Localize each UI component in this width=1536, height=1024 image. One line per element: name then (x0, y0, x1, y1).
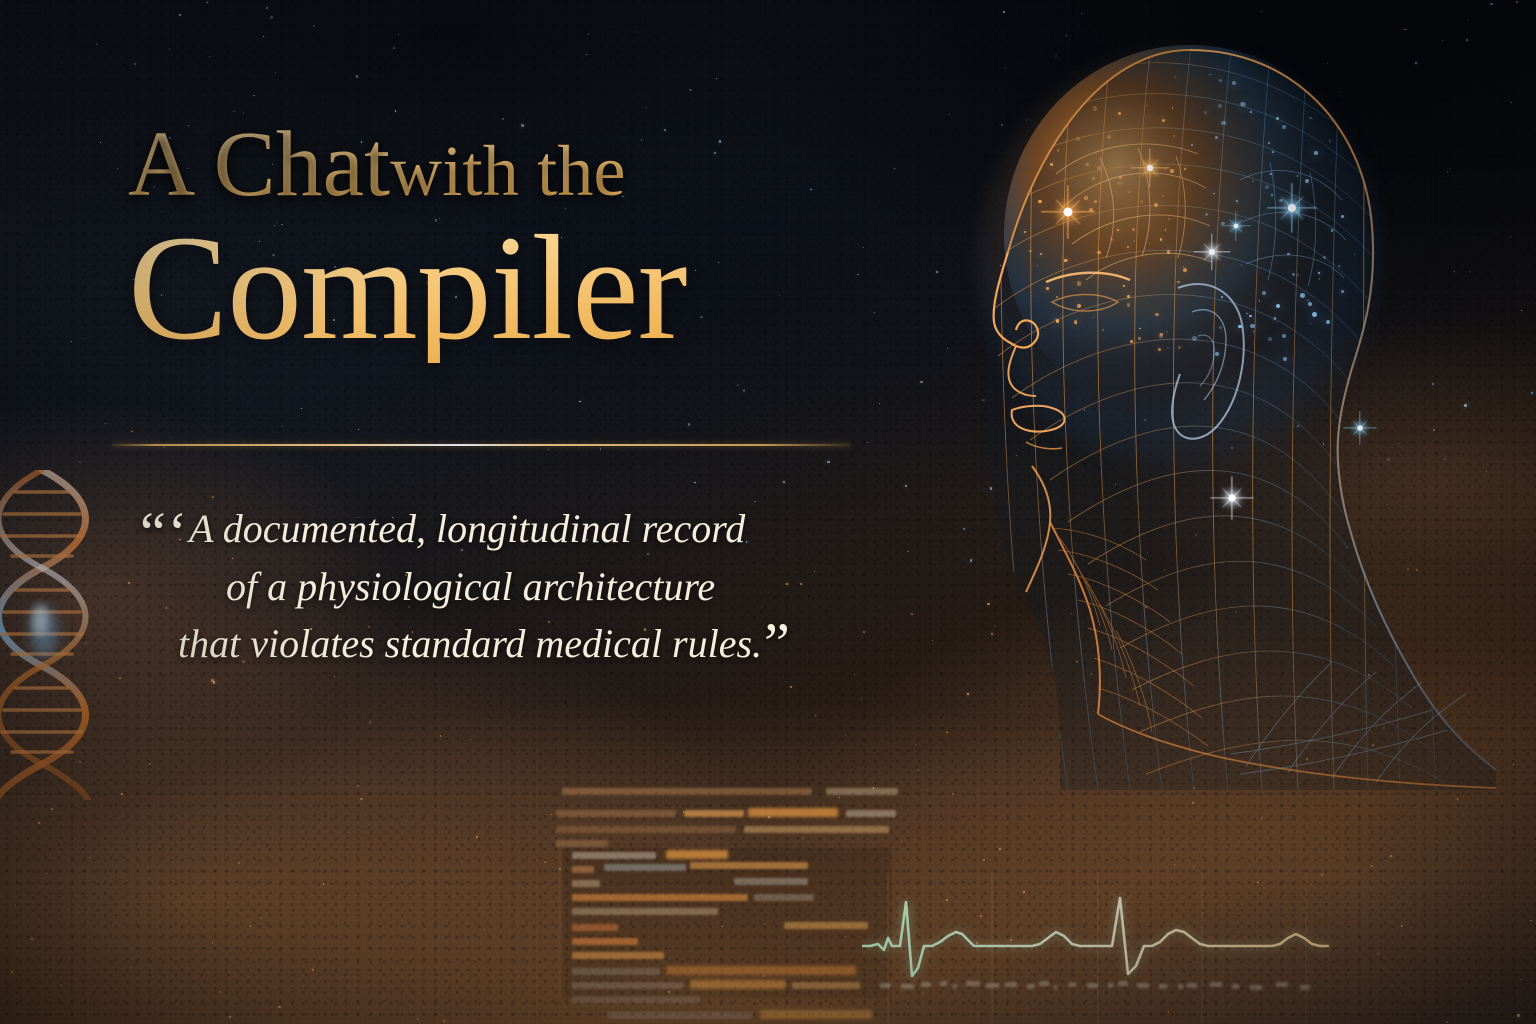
poster-canvas: A Chatwith the Compiler “‘A documented, … (0, 0, 1536, 1024)
vignette-overlay (0, 0, 1536, 1024)
